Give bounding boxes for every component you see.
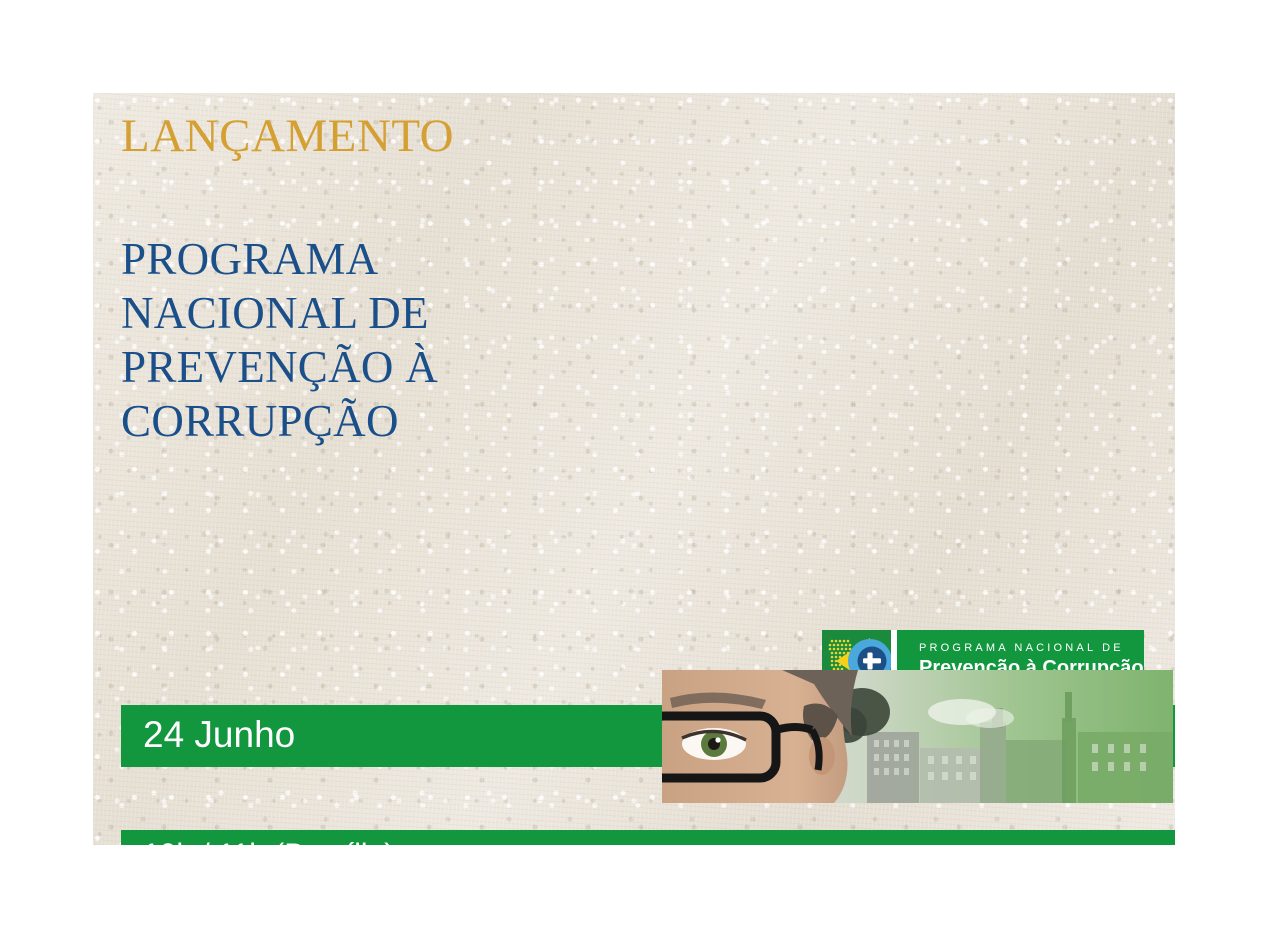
event-time-badge: 10h / 11h (Brasília) xyxy=(121,830,1175,845)
event-poster: LANÇAMENTO PROGRAMA NACIONAL DE PREVENÇÃ… xyxy=(93,93,1175,845)
poster-kicker: LANÇAMENTO xyxy=(121,109,1175,163)
poster-title: PROGRAMA NACIONAL DE PREVENÇÃO À CORRUPÇ… xyxy=(121,232,551,448)
program-logo-line1: PROGRAMA NACIONAL DE xyxy=(919,642,1144,655)
photo-strip-man-glasses-city-green xyxy=(662,670,1173,803)
